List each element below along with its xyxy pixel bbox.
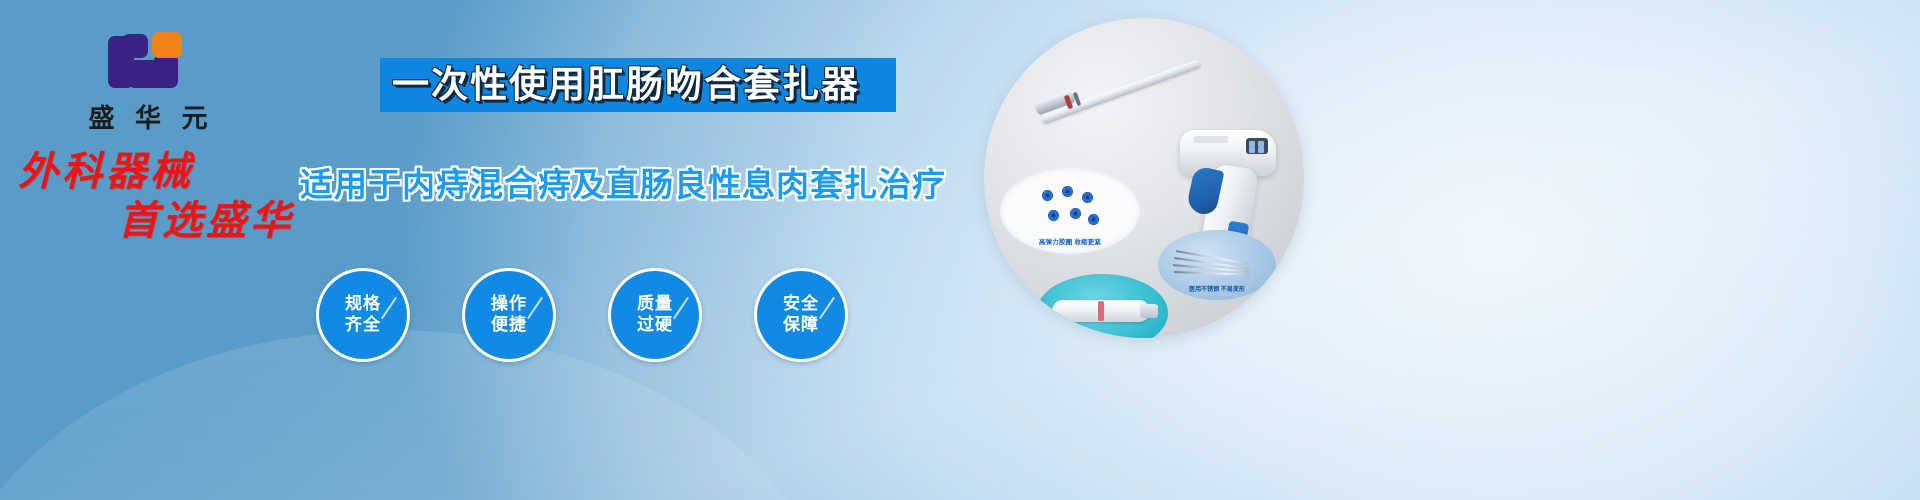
slogan-line-1: 外科器械: [18, 149, 194, 194]
tube-inset: [1036, 274, 1168, 338]
tube-tip: [1140, 304, 1158, 318]
rubber-bands-inset: 高弹力胶圈 收缩更紧: [1000, 168, 1140, 254]
feature-spec[interactable]: 规格 齐全: [316, 268, 410, 362]
feature-operate-line2: 便捷: [491, 315, 527, 336]
needles-caption: 医用不锈钢 不易变形: [1158, 284, 1276, 293]
rubber-band-dot: [1070, 208, 1081, 219]
rubber-band-dot: [1042, 190, 1053, 201]
gun-label-strip: [1194, 136, 1228, 143]
needles-inset: 医用不锈钢 不易变形: [1158, 230, 1276, 300]
feature-spec-line2: 齐全: [345, 315, 381, 336]
gun-button-4: [1258, 147, 1264, 153]
feature-quality-line1: 质量: [637, 294, 673, 315]
anorectal-ligator-product-photo[interactable]: 高弹力胶圈 收缩更紧 医用不锈钢 不易变形: [984, 18, 1304, 338]
gun-button-panel: [1246, 138, 1268, 154]
tube-red-band: [1098, 301, 1104, 321]
feature-safety-line1: 安全: [783, 294, 819, 315]
rubber-band-dot: [1048, 210, 1059, 221]
shenghuayuan-logo-icon: [100, 26, 196, 94]
logo-shape-orange-square: [152, 32, 182, 58]
rubber-band-dot: [1062, 186, 1073, 197]
brand-logo[interactable]: 盛 华 元: [68, 26, 228, 135]
feature-operate[interactable]: 操作 便捷: [462, 268, 556, 362]
feature-safety-line2: 保障: [783, 315, 819, 336]
feature-list: 规格 齐全 操作 便捷 质量 过硬 安全 保障: [316, 268, 848, 362]
logo-shape-upper-left: [122, 34, 148, 58]
rubber-band-dot: [1088, 214, 1099, 225]
rubber-band-dot: [1082, 192, 1093, 203]
logo-shape-notch: [136, 66, 148, 76]
brand-name: 盛 华 元: [68, 98, 228, 135]
product-subtitle: 适用于内痔混合痔及直肠良性息肉套扎治疗: [300, 158, 946, 206]
background-sheen: [0, 0, 1920, 500]
rubber-bands-caption: 高弹力胶圈 收缩更紧: [1000, 236, 1140, 246]
gun-button-3: [1249, 147, 1255, 153]
promo-banner: 盛 华 元 外科器械 首选盛华 一次性使用肛肠吻合套扎器 适用于内痔混合痔及直肠…: [0, 0, 1920, 500]
feature-operate-line1: 操作: [491, 294, 527, 315]
feature-quality[interactable]: 质量 过硬: [608, 268, 702, 362]
feature-safety[interactable]: 安全 保障: [754, 268, 848, 362]
product-title: 一次性使用肛肠吻合套扎器: [392, 58, 912, 112]
feature-quality-line2: 过硬: [637, 315, 673, 336]
brand-slogan: 外科器械 首选盛华: [18, 148, 348, 244]
feature-spec-line1: 规格: [345, 294, 381, 315]
